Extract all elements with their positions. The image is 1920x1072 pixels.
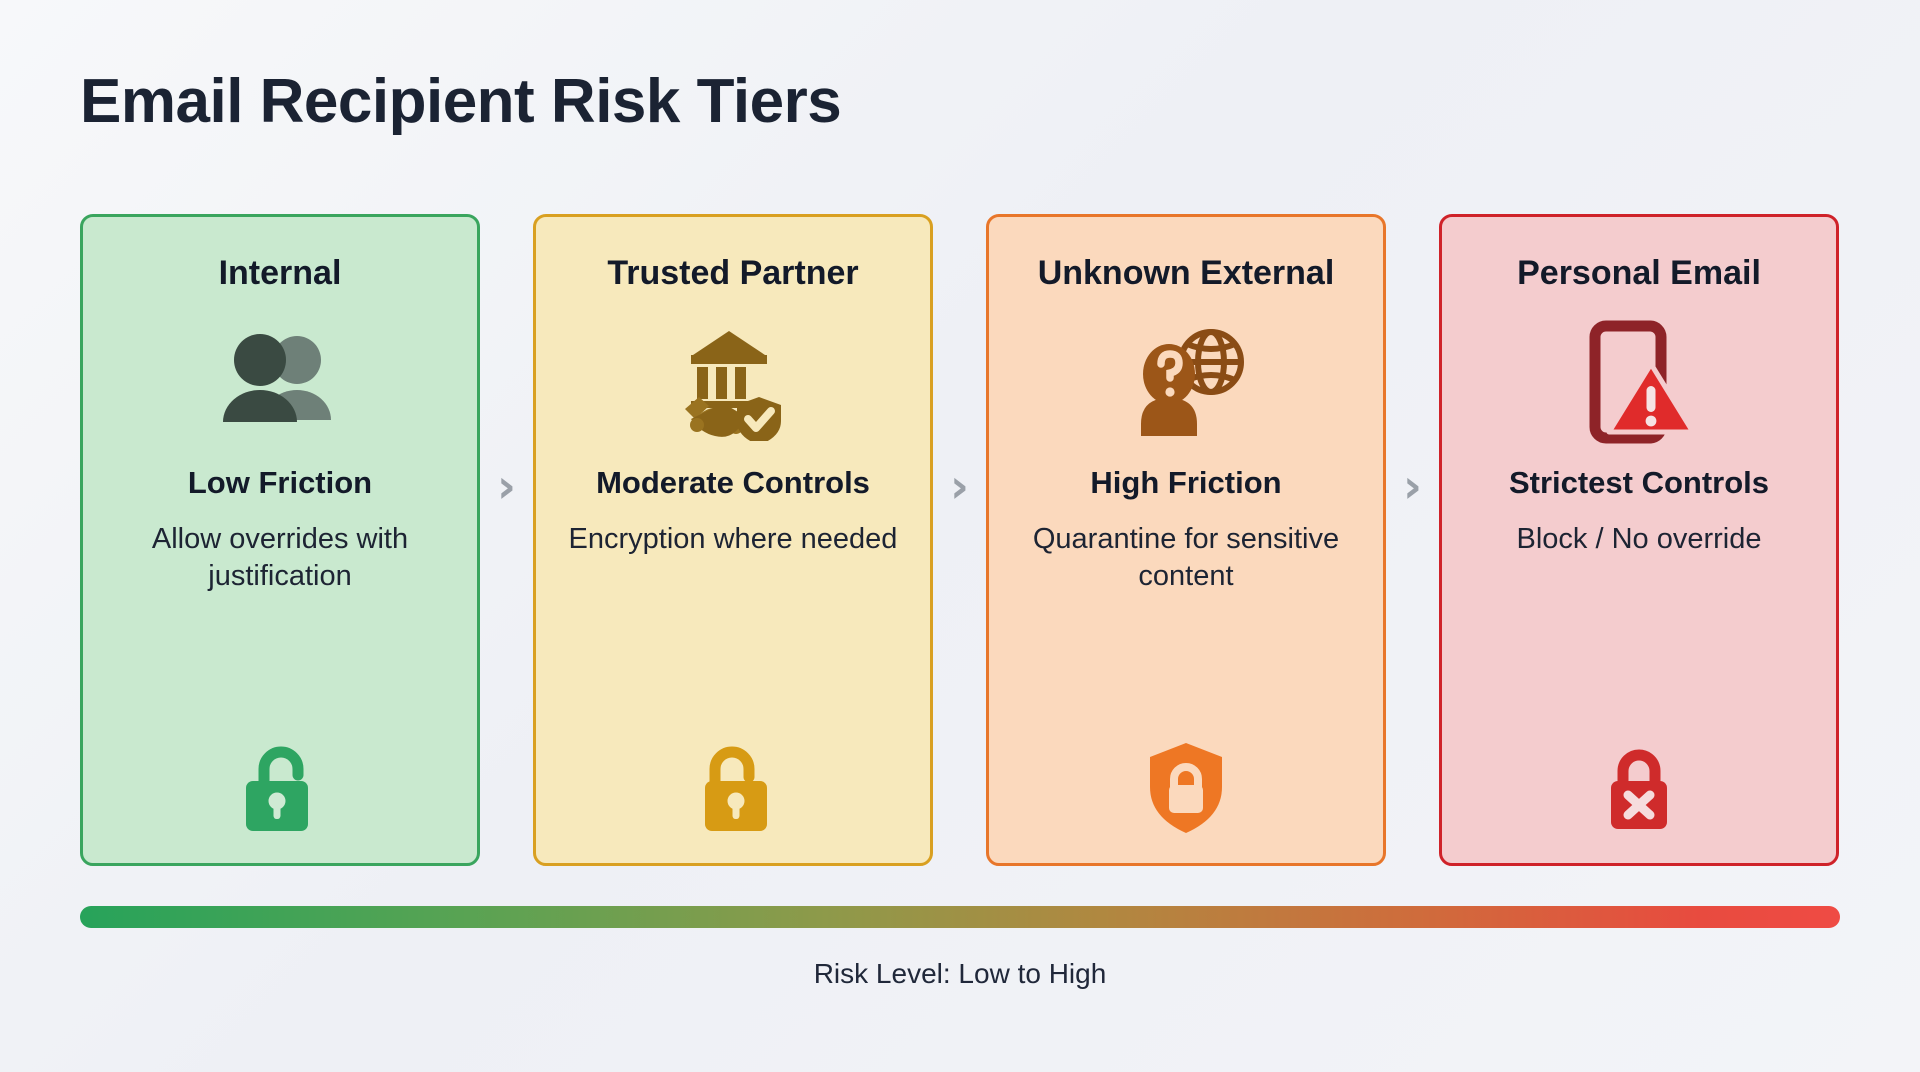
card-title: Personal Email (1517, 255, 1761, 292)
risk-tier-card-trusted-partner[interactable]: Trusted Partner (533, 214, 933, 866)
open-padlock-icon (536, 741, 930, 837)
chevron-right-icon: › (497, 463, 516, 509)
two-people-icon (217, 316, 343, 448)
chevron-right-icon: › (1403, 463, 1422, 509)
card-title: Unknown External (1038, 255, 1335, 292)
smartphone-warning-icon (1579, 316, 1699, 448)
card-description: Encryption where needed (554, 521, 912, 558)
card-subtitle: Low Friction (83, 465, 477, 501)
unknown-person-globe-icon (1121, 316, 1251, 448)
shield-lock-icon (989, 739, 1383, 837)
card-description: Quarantine for sensitive content (1007, 521, 1365, 595)
connector-gap-2: › (933, 214, 986, 866)
risk-tier-card-unknown-external[interactable]: Unknown External (986, 214, 1386, 866)
risk-tier-card-personal-email[interactable]: Personal Email Strictest Controls Block … (1439, 214, 1839, 866)
card-title: Trusted Partner (607, 255, 858, 292)
card-subtitle: Strictest Controls (1442, 465, 1836, 501)
connector-gap-1: › (480, 214, 533, 866)
card-title: Internal (219, 255, 342, 292)
infographic-root: Email Recipient Risk Tiers Internal Low … (0, 0, 1920, 1072)
risk-tier-card-row: Internal Low Friction Allow overrides wi… (80, 214, 1840, 866)
risk-gradient-bar (80, 906, 1840, 928)
connector-gap-3: › (1386, 214, 1439, 866)
risk-tier-card-internal[interactable]: Internal Low Friction Allow overrides wi… (80, 214, 480, 866)
open-padlock-icon (83, 741, 477, 837)
card-description: Allow overrides with justification (101, 521, 459, 595)
chevron-right-icon: › (950, 463, 969, 509)
page-title: Email Recipient Risk Tiers (80, 66, 841, 137)
locked-padlock-x-icon (1442, 739, 1836, 837)
card-subtitle: High Friction (989, 465, 1383, 501)
card-subtitle: Moderate Controls (536, 465, 930, 501)
card-description: Block / No override (1460, 521, 1818, 558)
risk-scale-caption: Risk Level: Low to High (0, 958, 1920, 990)
bank-handshake-shield-check-icon (667, 316, 799, 448)
